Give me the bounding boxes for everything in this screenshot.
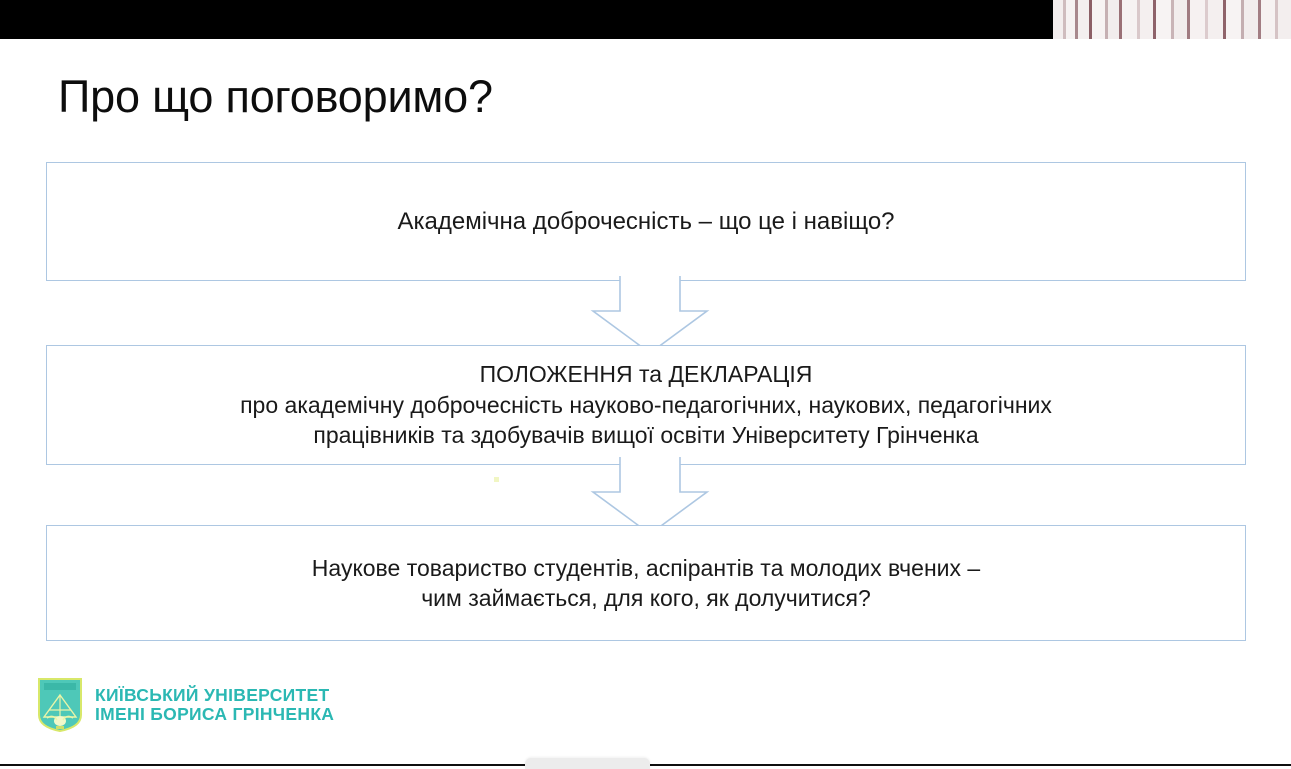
video-controls-handle[interactable] — [525, 758, 650, 769]
arrow-down-icon — [575, 275, 725, 355]
regulation-declaration-box: ПОЛОЖЕННЯ та ДЕКЛАРАЦІЯ про академічну д… — [46, 345, 1246, 465]
academic-integrity-line-1: Академічна доброчесність – що це і навіщ… — [397, 206, 894, 238]
arrow-down-1 — [575, 275, 725, 355]
scientific-society-line-2: чим займається, для кого, як долучитися? — [312, 583, 980, 613]
slide-artifact-mark — [494, 477, 499, 482]
arrow-down-icon — [575, 456, 725, 536]
scientific-society-line-1: Наукове товариство студентів, аспірантів… — [312, 553, 980, 583]
regulation-line-1: ПОЛОЖЕННЯ та ДЕКЛАРАЦІЯ — [240, 359, 1052, 389]
presentation-slide: Про що поговоримо? Академічна доброчесні… — [0, 39, 1291, 751]
university-crest-icon — [37, 677, 83, 733]
page-title: Про що поговоримо? — [58, 71, 493, 123]
university-logo-text: КИЇВСЬКИЙ УНІВЕРСИТЕТ ІМЕНІ БОРИСА ГРІНЧ… — [95, 686, 334, 724]
academic-integrity-box: Академічна доброчесність – що це і навіщ… — [46, 162, 1246, 281]
scientific-society-box: Наукове товариство студентів, аспірантів… — [46, 525, 1246, 641]
university-logo-line-1: КИЇВСЬКИЙ УНІВЕРСИТЕТ — [95, 686, 334, 705]
academic-integrity-box-text: Академічна доброчесність – що це і навіщ… — [377, 206, 914, 238]
university-logo-line-2: ІМЕНІ БОРИСА ГРІНЧЕНКА — [95, 705, 334, 724]
regulation-line-2: про академічну доброчесність науково-пед… — [240, 390, 1052, 420]
university-logo: КИЇВСЬКИЙ УНІВЕРСИТЕТ ІМЕНІ БОРИСА ГРІНЧ… — [37, 677, 334, 733]
regulation-line-3: працівників та здобувачів вищої освіти У… — [240, 420, 1052, 450]
regulation-declaration-box-text: ПОЛОЖЕННЯ та ДЕКЛАРАЦІЯ про академічну д… — [220, 359, 1072, 450]
scientific-society-box-text: Наукове товариство студентів, аспірантів… — [292, 553, 1000, 614]
arrow-down-2 — [575, 456, 725, 536]
